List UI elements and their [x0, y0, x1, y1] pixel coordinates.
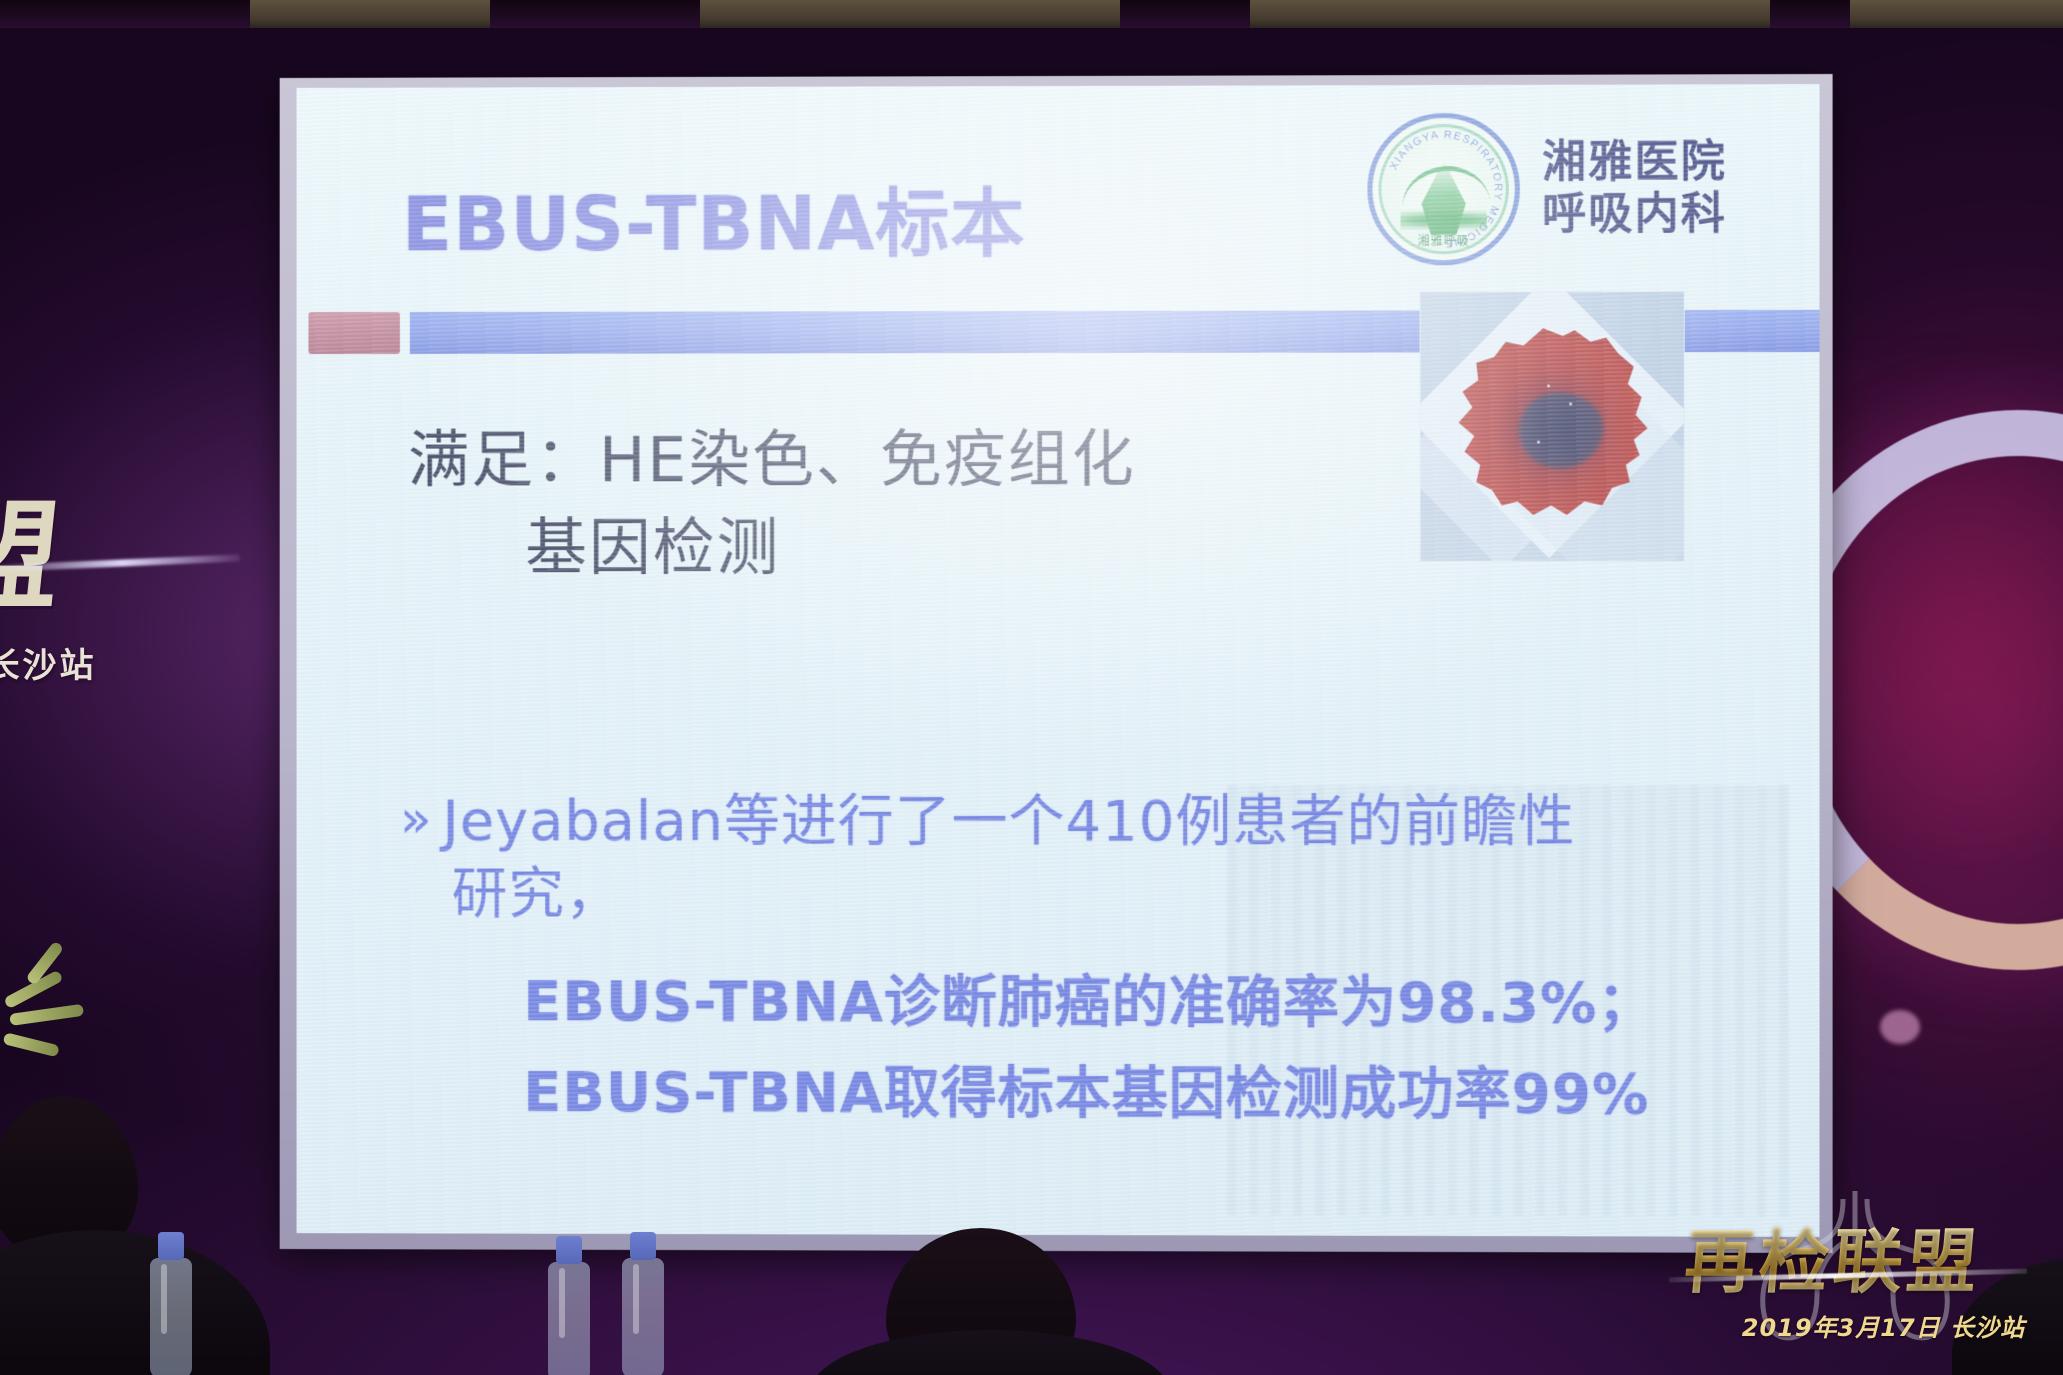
- divider-accent-chip: [308, 312, 399, 354]
- backdrop-logo-subtitle: 日 长沙站: [0, 638, 192, 687]
- ceiling-beam: [1850, 0, 2063, 28]
- specimen-speck: [1569, 402, 1572, 405]
- histology-specimen-image: [1420, 291, 1685, 562]
- bullet-marker-icon: »: [400, 786, 433, 856]
- backdrop-left-brand: 盟 日 长沙站: [0, 498, 192, 687]
- slide-statement: 满足：HE染色、免疫组化 基因检测: [408, 416, 1136, 592]
- watermark-date: 2019年3月17日 长沙站: [1742, 1308, 2025, 1343]
- slide-bullets: » Jeyabalan等进行了一个410例患者的前瞻性 研究， EBUS-TBN…: [400, 786, 1759, 1137]
- hospital-name: 湘雅医院: [1542, 137, 1727, 189]
- specimen-speck: [1547, 384, 1550, 387]
- statement-line-1: 满足：HE染色、免疫组化: [408, 416, 1136, 505]
- hospital-logo: XIANGYA RESPIRATORY MEDICINE 湘雅呼吸 湘雅医院 呼…: [1367, 112, 1727, 265]
- hospital-emblem-icon: XIANGYA RESPIRATORY MEDICINE 湘雅呼吸: [1367, 113, 1520, 266]
- presentation-slide: EBUS-TBNA标本 XIANGYA RESPIRATORY MEDICINE: [297, 84, 1820, 1237]
- water-bottle: [622, 1258, 664, 1375]
- ceiling-beam: [250, 0, 490, 28]
- department-name: 呼吸内科: [1542, 189, 1727, 241]
- slide-title: EBUS-TBNA标本: [402, 164, 1025, 272]
- bullet-continuation: 研究，: [452, 858, 1760, 932]
- bullet-item: » Jeyabalan等进行了一个410例患者的前瞻性: [400, 786, 1759, 860]
- foreground-plant: [0, 962, 120, 1082]
- water-bottle: [548, 1262, 590, 1375]
- hospital-logo-text: 湘雅医院 呼吸内科: [1542, 137, 1727, 241]
- bullet-text: Jeyabalan等进行了一个410例患者的前瞻性: [442, 786, 1575, 860]
- emblem-caption: 湘雅呼吸: [1418, 232, 1470, 249]
- emblem-wings-icon: [1401, 209, 1487, 231]
- audience-shoulders: [0, 1230, 270, 1375]
- ceiling-beam: [1250, 0, 1770, 28]
- ceiling-beam: [700, 0, 1120, 28]
- backdrop-bokeh: [1880, 1010, 1920, 1044]
- water-bottle: [150, 1258, 192, 1375]
- event-watermark: 再检联盟 2019年3月17日 长沙站: [1675, 1181, 2035, 1357]
- watermark-title: 再检联盟: [1682, 1227, 2048, 1297]
- statement-line-2: 基因检测: [525, 504, 1136, 592]
- venue-photo: 盟 日 长沙站 EBUS-TBNA标本: [0, 0, 2063, 1375]
- result-line-2: EBUS-TBNA取得标本基因检测成功率99%: [523, 1052, 1759, 1136]
- specimen-speck: [1537, 441, 1540, 444]
- projection-screen: EBUS-TBNA标本 XIANGYA RESPIRATORY MEDICINE: [280, 74, 1833, 1253]
- audience-shoulders: [810, 1330, 1170, 1375]
- result-line-1: EBUS-TBNA诊断肺癌的准确率为98.3%；: [523, 961, 1759, 1045]
